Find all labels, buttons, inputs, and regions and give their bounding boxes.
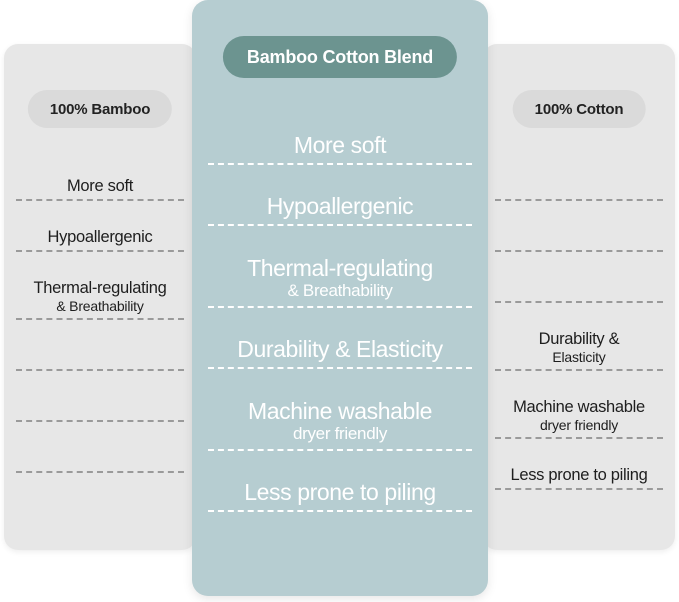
feature-row-empty [16, 422, 184, 473]
column-badge-cotton: 100% Cotton [513, 90, 646, 128]
comparison-chart: 100% Bamboo More softHypoallergenicTherm… [0, 0, 679, 602]
feature-row-empty [16, 371, 184, 422]
comparison-column-blend: Bamboo Cotton Blend More softHypoallerge… [192, 0, 488, 596]
feature-row: Hypoallergenic [208, 165, 472, 226]
feature-row: More soft [208, 104, 472, 165]
column-badge-blend: Bamboo Cotton Blend [223, 36, 457, 78]
feature-label: Thermal-regulating [33, 279, 166, 297]
comparison-column-cotton: 100% Cotton Durability &ElasticityMachin… [483, 44, 675, 550]
feature-label: Less prone to piling [510, 466, 647, 484]
feature-row: Durability & Elasticity [208, 308, 472, 369]
comparison-column-bamboo: 100% Bamboo More softHypoallergenicTherm… [4, 44, 196, 550]
feature-row: More soft [16, 150, 184, 201]
feature-sublabel: dryer friendly [293, 424, 387, 444]
feature-row: Machine washabledryer friendly [208, 369, 472, 451]
feature-label: Durability & [539, 330, 620, 348]
feature-label: Thermal-regulating [247, 256, 433, 281]
feature-label: Less prone to piling [244, 480, 435, 505]
feature-row: Hypoallergenic [16, 201, 184, 252]
feature-row: Less prone to piling [495, 439, 663, 490]
feature-row-empty [495, 252, 663, 303]
feature-label: More soft [294, 133, 386, 158]
feature-list-blend: More softHypoallergenicThermal-regulatin… [192, 104, 488, 512]
feature-row-empty [495, 201, 663, 252]
feature-row: Thermal-regulating& Breathability [208, 226, 472, 308]
feature-row: Machine washabledryer friendly [495, 371, 663, 439]
column-badge-bamboo: 100% Bamboo [28, 90, 172, 128]
feature-label: Hypoallergenic [267, 194, 414, 219]
feature-sublabel: & Breathability [287, 281, 392, 301]
feature-label: More soft [67, 177, 133, 195]
feature-sublabel: Elasticity [552, 349, 605, 365]
feature-row: Less prone to piling [208, 451, 472, 512]
feature-row: Thermal-regulating& Breathability [16, 252, 184, 320]
feature-label: Machine washable [513, 398, 645, 416]
feature-label: Hypoallergenic [48, 228, 153, 246]
feature-sublabel: dryer friendly [540, 417, 618, 433]
feature-sublabel: & Breathability [56, 298, 143, 314]
feature-list-bamboo: More softHypoallergenicThermal-regulatin… [4, 150, 196, 473]
feature-label: Machine washable [248, 399, 432, 424]
feature-row-empty [495, 150, 663, 201]
feature-label: Durability & Elasticity [237, 337, 443, 362]
feature-row: Durability &Elasticity [495, 303, 663, 371]
feature-list-cotton: Durability &ElasticityMachine washabledr… [483, 150, 675, 490]
feature-row-empty [16, 320, 184, 371]
